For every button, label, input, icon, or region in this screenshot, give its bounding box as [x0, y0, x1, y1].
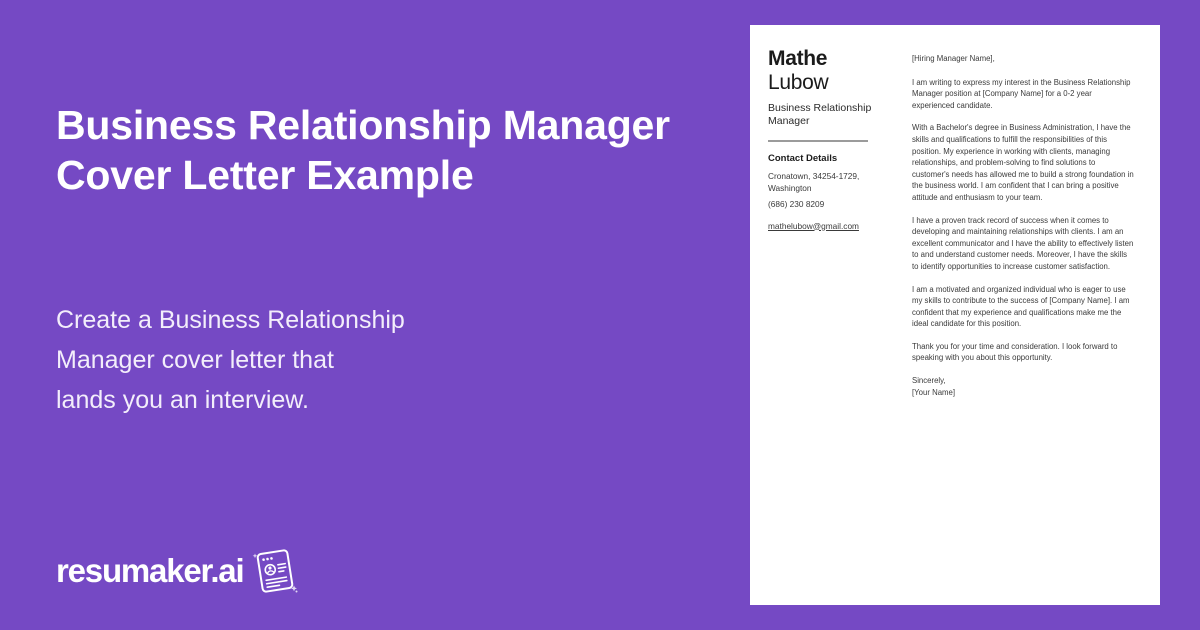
contact-address: Cronatown, 34254-1729, Washington [768, 171, 888, 194]
applicant-last-name: Lubow [768, 70, 888, 95]
document-sidebar: Mathe Lubow Business Relationship Manage… [750, 25, 902, 605]
contact-address-line-1: Cronatown, 34254-1729, [768, 171, 859, 181]
resume-document-icon [249, 545, 301, 597]
contact-email-link[interactable]: mathelubow@gmail.com [768, 221, 859, 233]
promo-subtitle: Create a Business Relationship Manager c… [56, 300, 526, 420]
promo-subtitle-line-1: Create a Business Relationship [56, 300, 526, 340]
letter-paragraph-5: Thank you for your time and consideratio… [912, 341, 1134, 364]
contact-phone: (686) 230 8209 [768, 199, 888, 211]
cover-letter-document[interactable]: Mathe Lubow Business Relationship Manage… [750, 25, 1160, 605]
brand-logo[interactable]: resumaker.ai [56, 545, 301, 597]
applicant-job-title: Business Relationship Manager [768, 102, 888, 128]
promo-subtitle-line-2: Manager cover letter that [56, 340, 526, 380]
letter-signature: [Your Name] [912, 387, 1134, 399]
page-title: Business Relationship Manager Cover Lett… [56, 100, 696, 200]
promo-panel: Business Relationship Manager Cover Lett… [0, 0, 750, 630]
contact-details-heading: Contact Details [768, 153, 888, 164]
letter-paragraph-1: I am writing to express my interest in t… [912, 77, 1134, 112]
letter-paragraph-2: With a Bachelor's degree in Business Adm… [912, 122, 1134, 203]
contact-address-line-2: Washington [768, 183, 812, 193]
letter-closing: Sincerely, [912, 375, 1134, 387]
applicant-first-name: Mathe [768, 47, 888, 70]
document-letter-body: [Hiring Manager Name], I am writing to e… [902, 25, 1160, 605]
letter-paragraph-4: I am a motivated and organized individua… [912, 284, 1134, 330]
letter-salutation: [Hiring Manager Name], [912, 53, 1134, 65]
sidebar-divider [768, 140, 868, 142]
promo-subtitle-line-3: lands you an interview. [56, 380, 526, 420]
letter-paragraph-3: I have a proven track record of success … [912, 215, 1134, 273]
brand-wordmark: resumaker.ai [56, 553, 243, 589]
